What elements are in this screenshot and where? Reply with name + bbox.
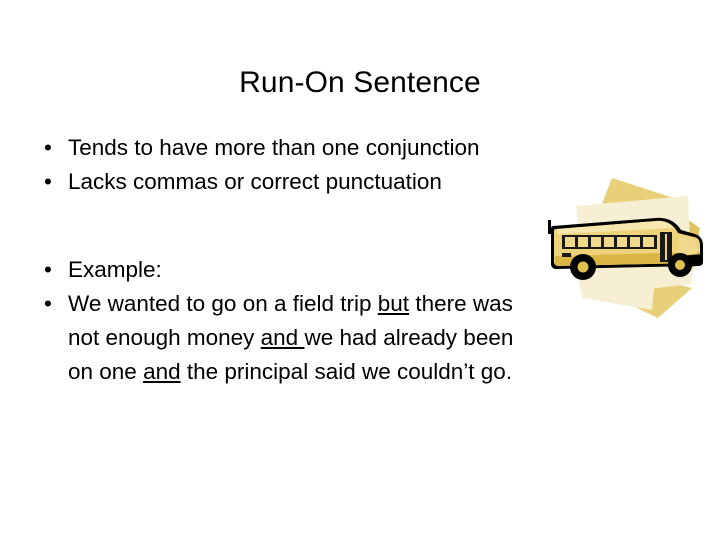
bullet-marker: •: [44, 131, 58, 165]
sentence-text: we had already been: [304, 325, 513, 350]
bus-window-pane: [617, 237, 627, 247]
sentence-text: the principal said we couldn’t go.: [181, 359, 512, 384]
underlined-conjunction: but: [378, 291, 409, 316]
sentence-text: We wanted to go on a field trip: [68, 291, 378, 316]
sentence-line-3: on one and the principal said we couldn’…: [68, 355, 686, 389]
bus-window-pane: [630, 237, 640, 247]
bus-window-pane: [565, 237, 575, 247]
bus-window-pane: [643, 237, 654, 247]
bus-rear-marker: [562, 253, 571, 257]
slide: Run-On Sentence • Tends to have more tha…: [0, 0, 720, 540]
bus-wheel-rear-hub: [578, 262, 589, 273]
page-title: Run-On Sentence: [0, 66, 720, 101]
bus-window-pane: [578, 237, 588, 247]
bus-window-pane: [591, 237, 601, 247]
bullet-marker: •: [44, 165, 58, 199]
sentence-text: on one: [68, 359, 143, 384]
bullet-text-conjunction: Tends to have more than one conjunction: [68, 131, 686, 165]
bus-window-pane: [604, 237, 614, 247]
bullet-marker: •: [44, 287, 58, 321]
underlined-conjunction: and: [143, 359, 181, 384]
bus-door-gap: [665, 234, 667, 260]
sentence-text: there was: [409, 291, 513, 316]
bus-wheel-front-hub: [675, 260, 685, 270]
school-bus-icon: [540, 170, 708, 320]
bullet-marker: •: [44, 253, 58, 287]
bus-mirror-post: [548, 220, 551, 234]
underlined-conjunction: and: [261, 325, 305, 350]
list-item: • Tends to have more than one conjunctio…: [36, 131, 686, 165]
sentence-line-2: not enough money and we had already been: [68, 321, 686, 355]
sentence-text: not enough money: [68, 325, 261, 350]
